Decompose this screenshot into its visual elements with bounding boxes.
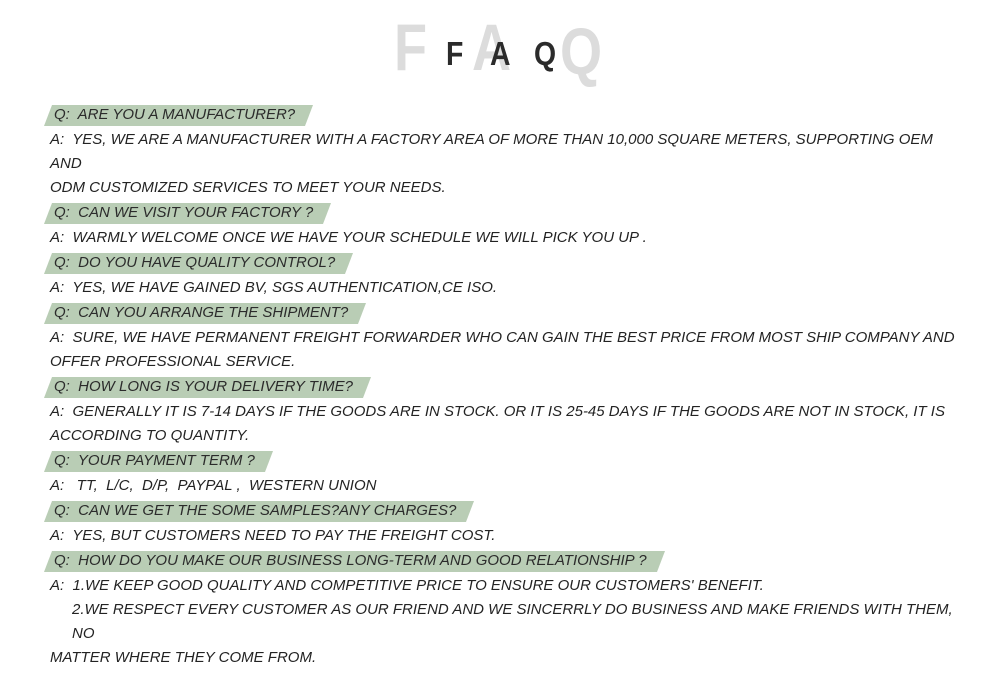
faq-question-text: Q: DO YOU HAVE QUALITY CONTROL? xyxy=(44,252,335,274)
faq-answer-text: A: YES, WE HAVE GAINED BV, SGS AUTHENTIC… xyxy=(44,276,964,300)
faq-answer-text: A: YES, WE ARE A MANUFACTURER WITH A FAC… xyxy=(44,128,964,176)
faq-item: Q: DO YOU HAVE QUALITY CONTROL?A: YES, W… xyxy=(44,252,964,302)
faq-answer-text: A: WARMLY WELCOME ONCE WE HAVE YOUR SCHE… xyxy=(44,226,964,250)
faq-question-text: Q: HOW LONG IS YOUR DELIVERY TIME? xyxy=(44,376,353,398)
faq-item-spacer xyxy=(44,670,964,672)
faq-list: Q: ARE YOU A MANUFACTURER?A: YES, WE ARE… xyxy=(44,104,964,672)
title-big-q-glyph: Q xyxy=(560,18,602,84)
faq-answer-continuation: OFFER PROFESSIONAL SERVICE. xyxy=(44,350,964,374)
title-big-f-glyph: F xyxy=(394,14,427,80)
faq-question-row: Q: HOW LONG IS YOUR DELIVERY TIME? xyxy=(44,376,964,398)
faq-question-row: Q: CAN WE VISIT YOUR FACTORY ? xyxy=(44,202,964,224)
faq-answer-continuation: MATTER WHERE THEY COME FROM. xyxy=(44,646,964,670)
faq-question-row: Q: CAN WE GET THE SOME SAMPLES?ANY CHARG… xyxy=(44,500,964,522)
faq-answer-text: A: GENERALLY IT IS 7-14 DAYS IF THE GOOD… xyxy=(44,400,964,424)
faq-answer-text: A: 1.WE KEEP GOOD QUALITY AND COMPETITIV… xyxy=(44,574,964,598)
title-small-q-glyph: Q xyxy=(534,37,556,70)
page-title: F F A A Q Q xyxy=(0,8,1000,94)
faq-item: Q: ARE YOU A MANUFACTURER?A: YES, WE ARE… xyxy=(44,104,964,202)
faq-question-text: Q: YOUR PAYMENT TERM ? xyxy=(44,450,255,472)
title-small-a-glyph: A xyxy=(490,37,511,70)
faq-question-text: Q: CAN WE VISIT YOUR FACTORY ? xyxy=(44,202,313,224)
faq-item: Q: CAN YOU ARRANGE THE SHIPMENT?A: SURE,… xyxy=(44,302,964,376)
faq-answer-continuation: ACCORDING TO QUANTITY. xyxy=(44,424,964,448)
faq-item: Q: HOW LONG IS YOUR DELIVERY TIME?A: GEN… xyxy=(44,376,964,450)
faq-answer-text: A: SURE, WE HAVE PERMANENT FREIGHT FORWA… xyxy=(44,326,964,350)
faq-question-row: Q: YOUR PAYMENT TERM ? xyxy=(44,450,964,472)
faq-question-row: Q: ARE YOU A MANUFACTURER? xyxy=(44,104,964,126)
faq-item: Q: YOUR PAYMENT TERM ?A: TT, L/C, D/P, P… xyxy=(44,450,964,500)
faq-question-text: Q: ARE YOU A MANUFACTURER? xyxy=(44,104,295,126)
faq-answer-text: A: TT, L/C, D/P, PAYPAL , WESTERN UNION xyxy=(44,474,964,498)
faq-question-row: Q: HOW DO YOU MAKE OUR BUSINESS LONG-TER… xyxy=(44,550,964,572)
faq-answer-continuation: 2.WE RESPECT EVERY CUSTOMER AS OUR FRIEN… xyxy=(44,598,964,646)
title-glyph-group: F F A A Q Q xyxy=(394,8,606,94)
faq-question-row: Q: CAN YOU ARRANGE THE SHIPMENT? xyxy=(44,302,964,324)
title-small-f-glyph: F xyxy=(446,37,463,70)
faq-item: Q: CAN WE GET THE SOME SAMPLES?ANY CHARG… xyxy=(44,500,964,550)
faq-page: F F A A Q Q Q: ARE YOU A MANUFACTURER?A:… xyxy=(0,0,1000,681)
faq-item: Q: HOW DO YOU MAKE OUR BUSINESS LONG-TER… xyxy=(44,550,964,672)
faq-answer-text: A: YES, BUT CUSTOMERS NEED TO PAY THE FR… xyxy=(44,524,964,548)
faq-item: Q: CAN WE VISIT YOUR FACTORY ?A: WARMLY … xyxy=(44,202,964,252)
faq-question-row: Q: DO YOU HAVE QUALITY CONTROL? xyxy=(44,252,964,274)
faq-answer-continuation: ODM CUSTOMIZED SERVICES TO MEET YOUR NEE… xyxy=(44,176,964,200)
faq-question-text: Q: CAN WE GET THE SOME SAMPLES?ANY CHARG… xyxy=(44,500,456,522)
faq-question-text: Q: CAN YOU ARRANGE THE SHIPMENT? xyxy=(44,302,348,324)
faq-question-text: Q: HOW DO YOU MAKE OUR BUSINESS LONG-TER… xyxy=(44,550,647,572)
